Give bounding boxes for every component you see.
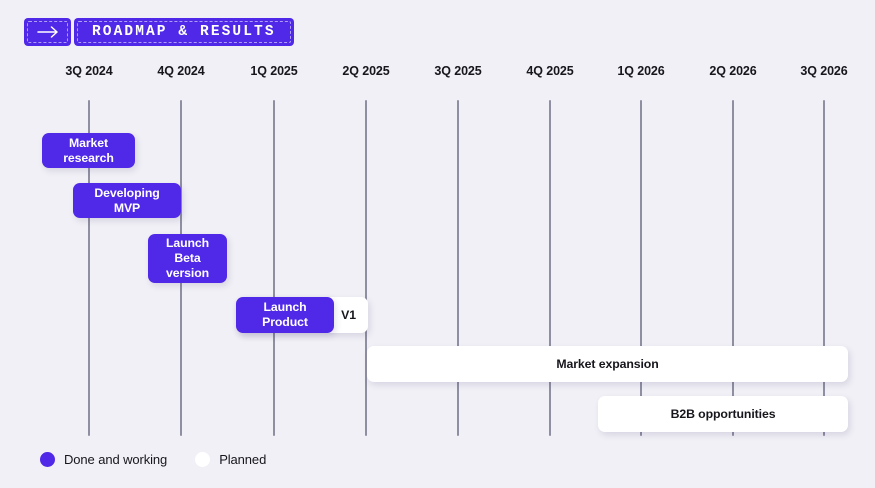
gantt-bar-label: Market research [50, 136, 127, 166]
gantt-bar-label: Market expansion [556, 357, 658, 372]
gantt-bar-label: Developing MVP [81, 186, 173, 216]
gantt-bar[interactable]: Market expansion [367, 346, 848, 382]
legend-item[interactable]: Done and working [40, 452, 167, 467]
gantt-bar-label: B2B opportunities [671, 407, 776, 422]
gantt-bar[interactable]: Developing MVP [73, 183, 181, 218]
legend-swatch-done-icon [40, 452, 55, 467]
gantt-bar-label: Launch Beta version [156, 236, 219, 281]
legend-item[interactable]: Planned [195, 452, 266, 467]
gantt-bar[interactable]: B2B opportunities [598, 396, 848, 432]
legend-swatch-planned-icon [195, 452, 210, 467]
gantt-bar[interactable]: Market research [42, 133, 135, 168]
gantt-bar[interactable]: Launch Product [236, 297, 334, 333]
legend-label: Done and working [64, 452, 167, 467]
gantt-bar-label: V1 [341, 308, 356, 323]
chart-legend: Done and workingPlanned [40, 452, 266, 467]
gantt-bar[interactable]: Launch Beta version [148, 234, 227, 283]
gantt-bar-label: Launch Product [244, 300, 326, 330]
gantt-plot-area: Market researchDeveloping MVPLaunch Beta… [0, 0, 875, 488]
legend-label: Planned [219, 452, 266, 467]
